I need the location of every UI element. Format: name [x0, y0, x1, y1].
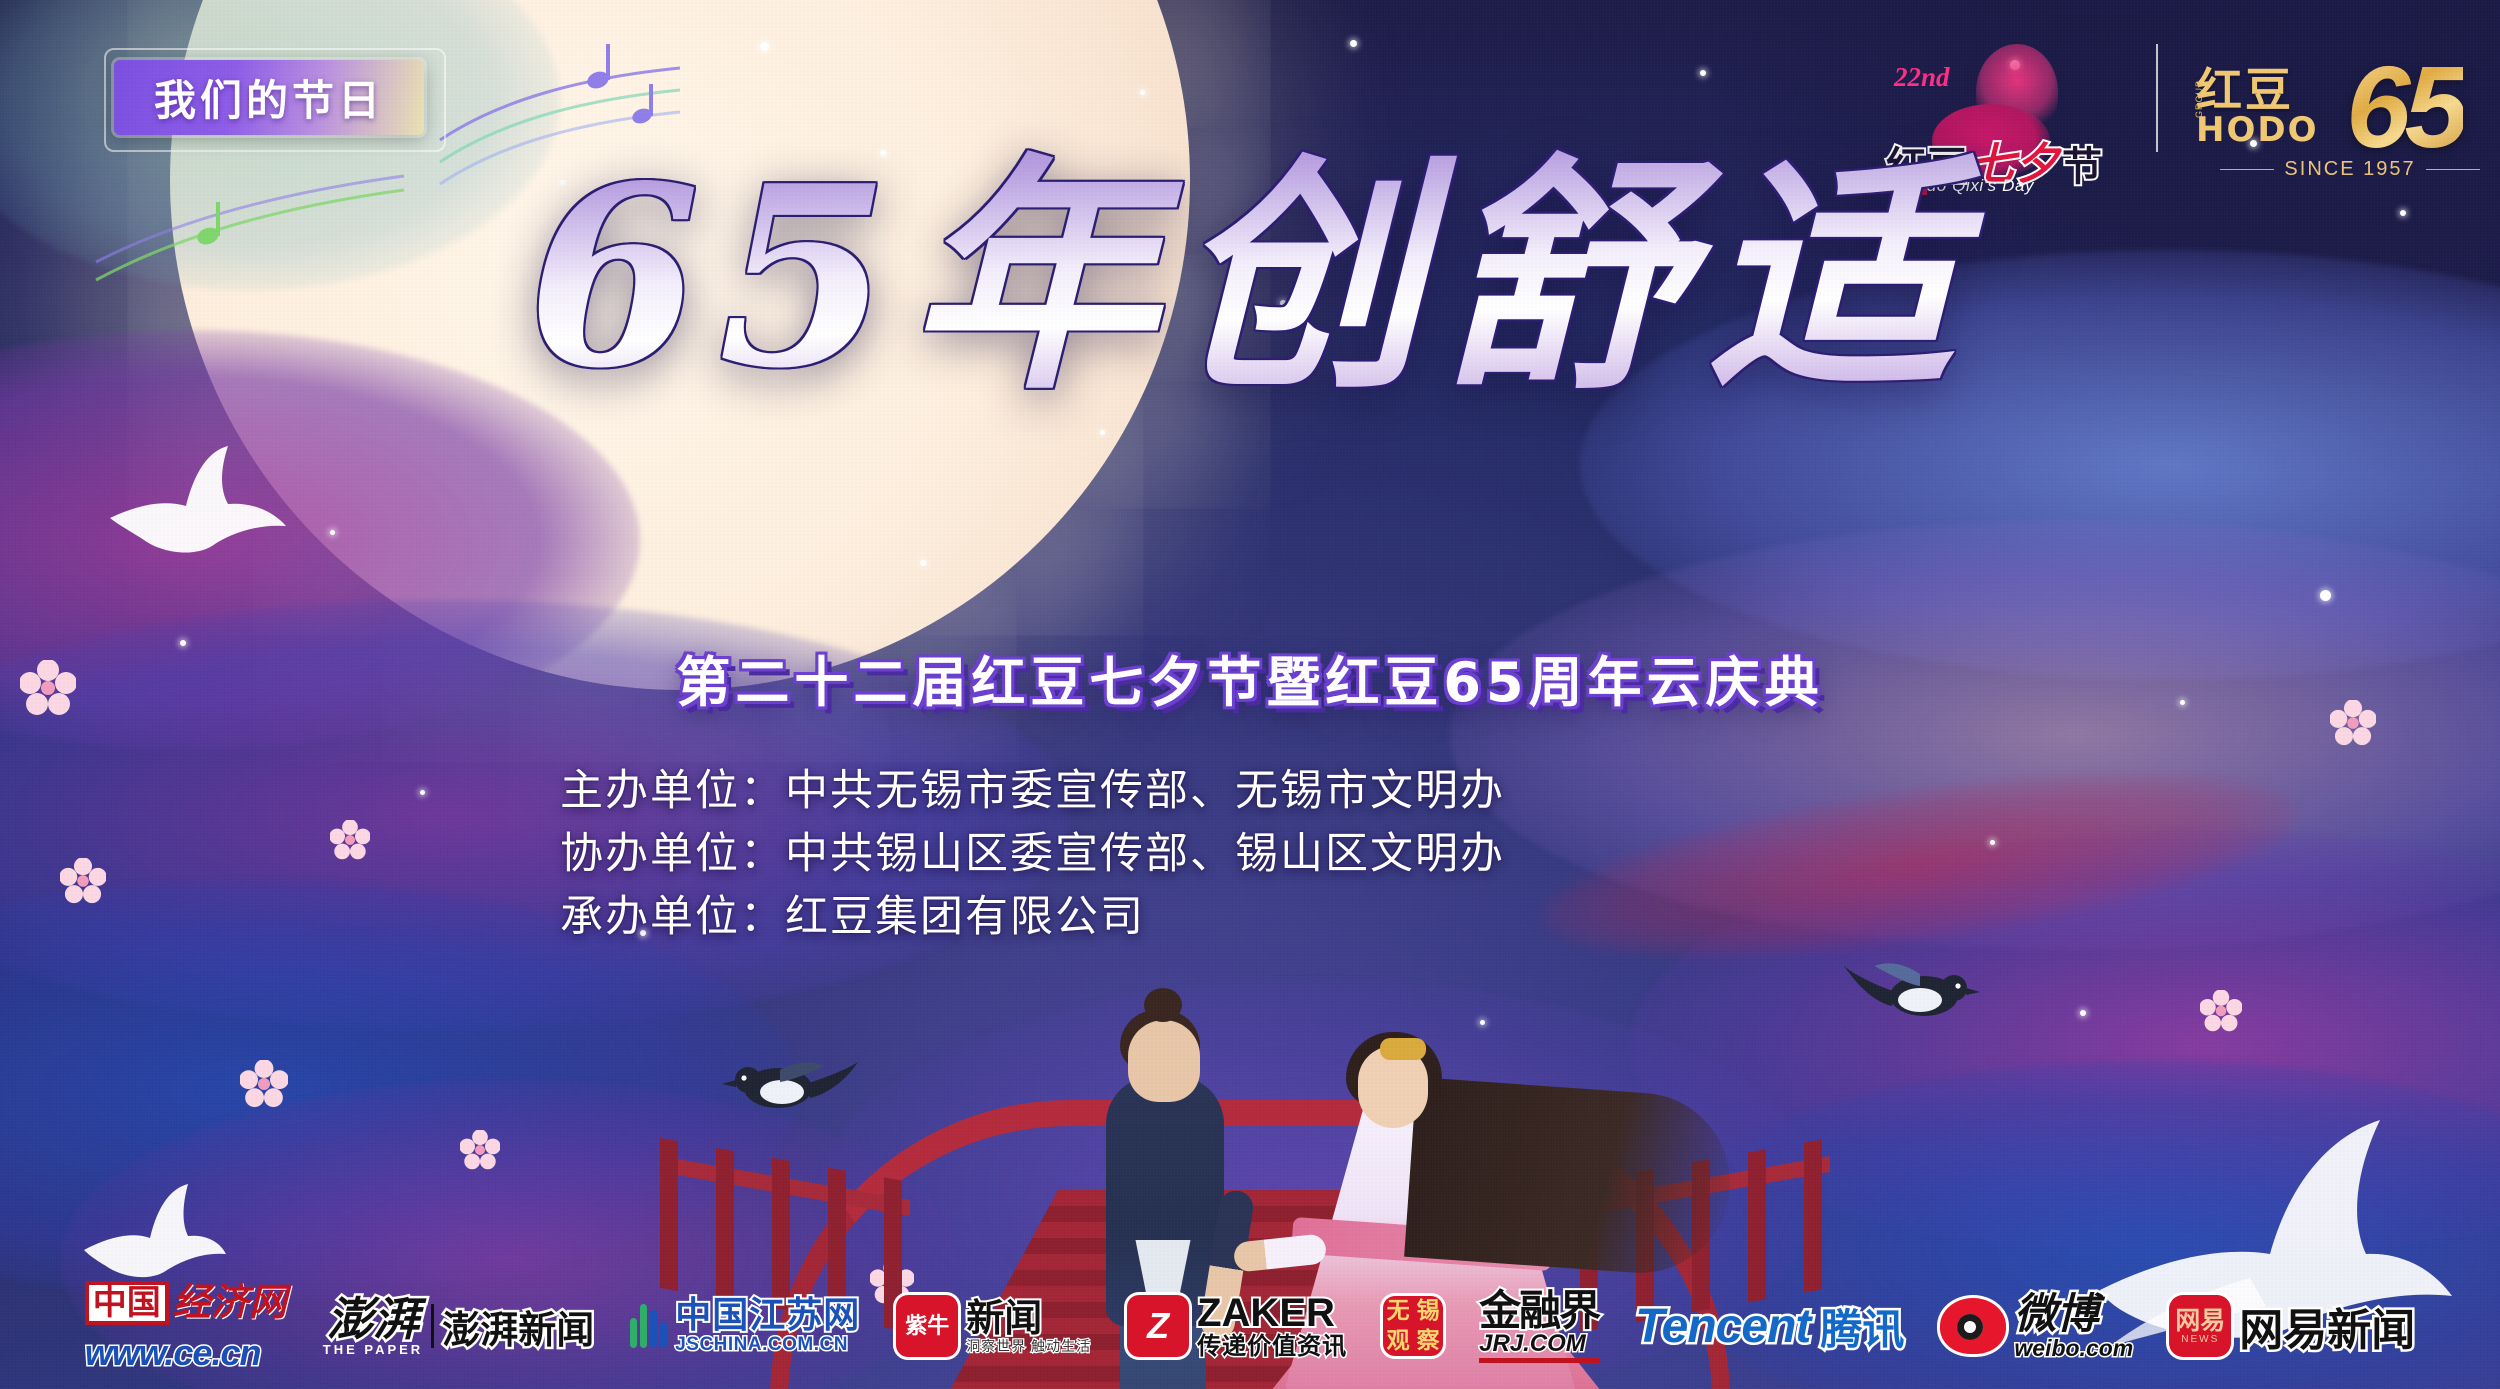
ziniu-mark-icon: 紫牛: [896, 1295, 958, 1357]
netease-mark-cn: 网易: [2175, 1308, 2225, 1333]
logo-wuxi-observe[interactable]: 无 锡 观 察: [1383, 1296, 1443, 1356]
wuxi-char-1: 无: [1387, 1300, 1410, 1323]
logo-jrj[interactable]: 金融界 JRJ.COM: [1479, 1290, 1599, 1363]
jschina-cn: 中国江苏网: [675, 1297, 860, 1335]
netease-mark-en: NEWS: [2181, 1335, 2219, 1345]
jschina-mark-icon: [630, 1304, 667, 1348]
logo-divider: [2156, 44, 2158, 152]
jrj-cn: 金融界: [1479, 1290, 1599, 1332]
cherry-blossom-icon: [460, 1130, 500, 1170]
niulang-hair-bun: [1144, 988, 1182, 1022]
niulang-head: [1128, 1020, 1200, 1102]
page-title: 65年创舒适: [0, 148, 2500, 408]
jrj-text: 金融界 JRJ.COM: [1479, 1290, 1599, 1363]
organizer-line-undertaker: 承办单位：红豆集团有限公司: [560, 886, 1505, 949]
tencent-cn: 腾讯: [1820, 1296, 1904, 1357]
cherry-blossom-icon: [330, 820, 370, 860]
zhinv-long-hair: [1404, 1077, 1736, 1279]
zaker-mark-icon: Z: [1127, 1295, 1189, 1357]
logo-ziniu-news[interactable]: 紫牛 新闻 洞察世界 触动生活: [896, 1295, 1091, 1357]
ziniu-cn: 新闻: [966, 1299, 1091, 1339]
zaker-mark-label: Z: [1147, 1305, 1169, 1347]
hodo-brand-en: HODO: [2196, 110, 2318, 150]
cherry-blossom-icon: [2200, 990, 2242, 1032]
weibo-text: 微博 weibo.com: [2014, 1292, 2133, 1360]
logo-zaker[interactable]: Z ZAKER 传递价值资讯: [1127, 1292, 1347, 1359]
page-subtitle: 第二十二届红豆七夕节暨红豆65周年云庆典: [0, 638, 2500, 717]
organizer-line-host: 主办单位：中共无锡市委宣传部、无锡市文明办: [560, 760, 1505, 823]
qixi-edition-label: 22nd: [1894, 62, 1950, 93]
paper-divider: [431, 1304, 434, 1348]
white-bird-bottom-left-icon: [78, 1180, 228, 1290]
zaker-text: ZAKER 传递价值资讯: [1197, 1292, 1347, 1359]
zhinv-hair-ornament: [1380, 1038, 1426, 1060]
jschina-url: JSCHINA.COM.CN: [675, 1335, 848, 1355]
weibo-eye-icon: [1940, 1298, 2006, 1354]
media-partner-bar: 中国 经济网 www.ce.cn 澎湃 THE PAPER 澎湃新闻 中国江苏网: [0, 1281, 2500, 1371]
festival-badge-label: 我们的节日: [154, 67, 384, 128]
logo-tencent[interactable]: Tencent 腾讯: [1635, 1296, 1904, 1357]
ce-top-row: 中国 经济网: [85, 1281, 287, 1325]
wuxi-char-2: 锡: [1417, 1300, 1440, 1323]
zaker-en: ZAKER: [1197, 1292, 1347, 1334]
ziniu-sub: 洞察世界 触动生活: [966, 1339, 1091, 1354]
organizer-line-coorganizer: 协办单位：中共锡山区委宣传部、锡山区文明办: [560, 823, 1505, 886]
ziniu-text: 新闻 洞察世界 触动生活: [966, 1299, 1091, 1354]
white-bird-left-icon: [100, 440, 290, 570]
zaker-cn: 传递价值资讯: [1197, 1334, 1347, 1359]
cherry-blossom-icon: [240, 1060, 288, 1108]
weibo-cn: 微博: [2014, 1292, 2133, 1336]
tencent-en: Tencent: [1635, 1299, 1810, 1354]
qixi-festival-poster: 我们的节日 22nd 红豆 七夕 节 HOdo Qixi's Day 红豆 GR…: [0, 0, 2500, 1389]
cherry-blossom-icon: [60, 858, 106, 904]
paper-cn-mark: 澎湃: [327, 1297, 419, 1343]
netease-mark-icon: 网易 NEWS: [2169, 1295, 2231, 1357]
logo-the-paper[interactable]: 澎湃 THE PAPER 澎湃新闻: [323, 1297, 594, 1356]
ce-cn-box: 中国: [85, 1281, 169, 1325]
ce-url: www.ce.cn: [85, 1335, 261, 1371]
paper-name: 澎湃新闻: [442, 1299, 594, 1354]
logo-jschina[interactable]: 中国江苏网 JSCHINA.COM.CN: [630, 1297, 860, 1355]
jrj-underline: [1479, 1358, 1599, 1363]
wuxi-char-3: 观: [1387, 1330, 1410, 1353]
festival-badge: 我们的节日: [114, 60, 424, 135]
paper-en-mark: THE PAPER: [323, 1343, 423, 1356]
logo-china-economic-net[interactable]: 中国 经济网 www.ce.cn: [85, 1281, 287, 1371]
wuxi-char-4: 察: [1417, 1330, 1440, 1353]
logo-netease-news[interactable]: 网易 NEWS 网易新闻: [2169, 1294, 2415, 1358]
ce-cn-script: 经济网: [173, 1284, 287, 1322]
ziniu-mark-label: 紫牛: [905, 1314, 949, 1337]
weibo-url: weibo.com: [2014, 1336, 2133, 1360]
netease-cn: 网易新闻: [2239, 1294, 2415, 1358]
jschina-text: 中国江苏网 JSCHINA.COM.CN: [675, 1297, 860, 1355]
wuxi-observe-mark-icon: 无 锡 观 察: [1383, 1296, 1443, 1356]
jrj-en: JRJ.COM: [1479, 1332, 1599, 1356]
logo-weibo[interactable]: 微博 weibo.com: [1940, 1292, 2133, 1360]
organizer-list: 主办单位：中共无锡市委宣传部、无锡市文明办 协办单位：中共锡山区委宣传部、锡山区…: [560, 760, 1505, 950]
